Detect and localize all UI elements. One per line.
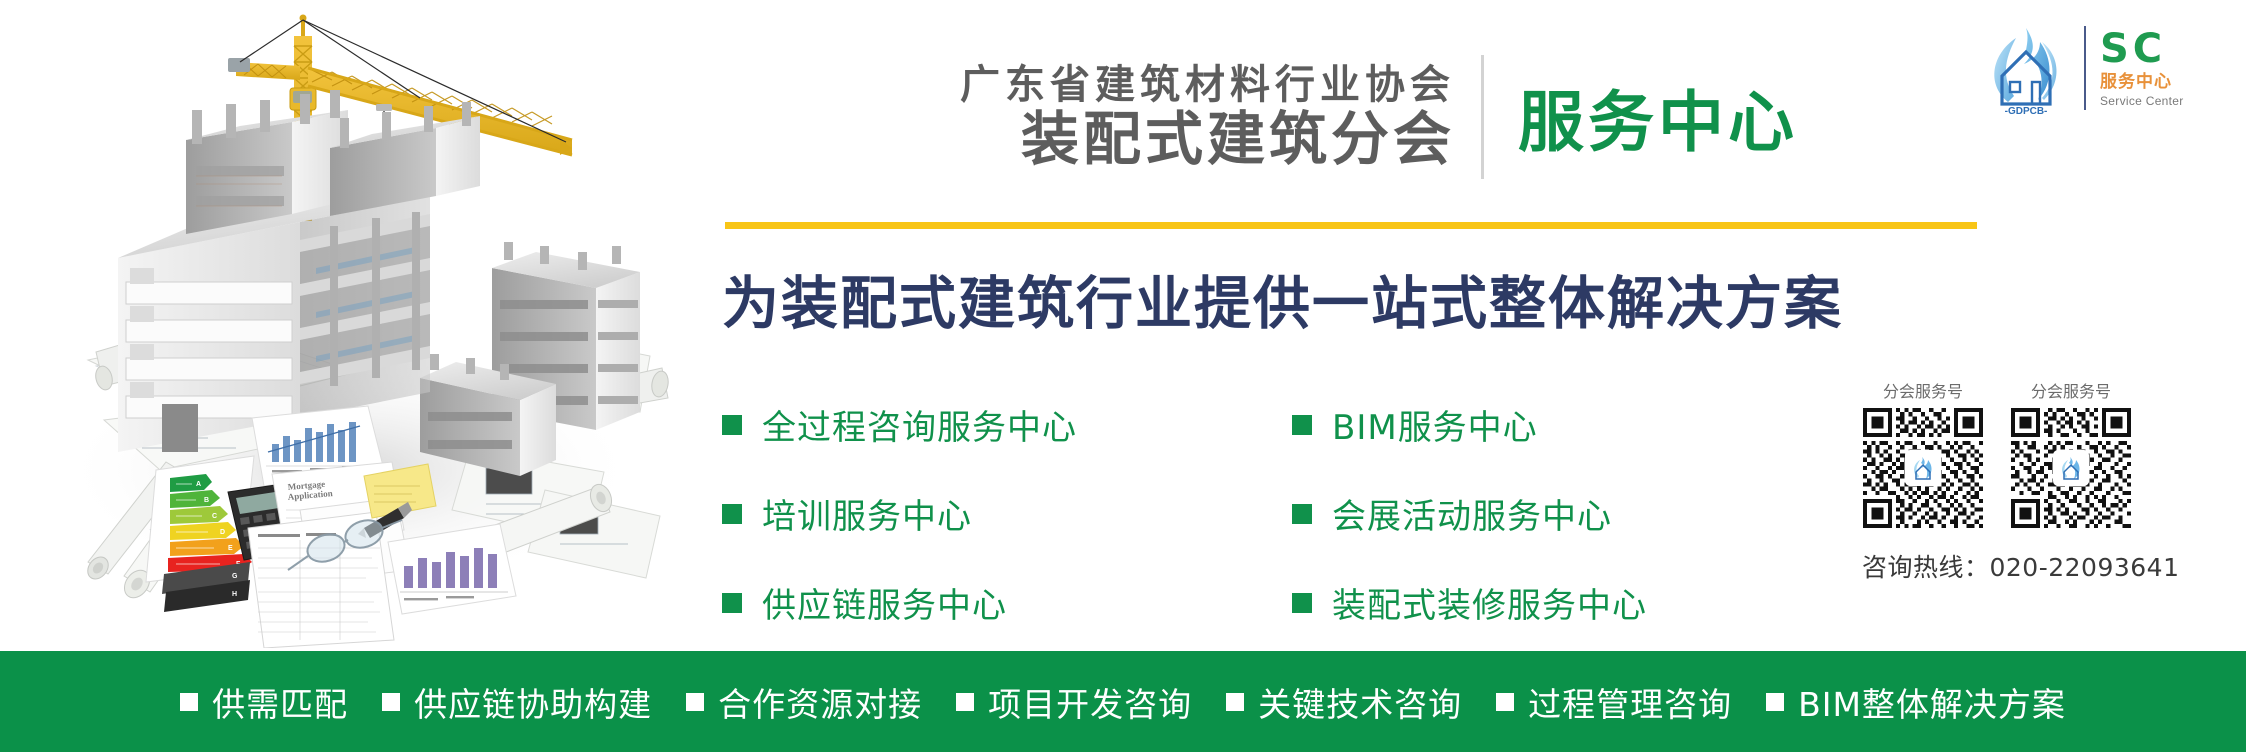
svg-text:C: C [212, 513, 217, 520]
bottom-item-label: 供应链协助构建 [414, 678, 652, 726]
qr-code-icon[interactable] [1863, 408, 1983, 528]
service-item-supply-chain[interactable]: 供应链服务中心 [722, 578, 1292, 627]
service-item-label: 供应链服务中心 [762, 578, 1007, 627]
bottom-services-bar: 供需匹配 供应链协助构建 合作资源对接 项目开发咨询 关键技术咨询 过程管理咨询 [0, 651, 2246, 752]
bottom-item-label: 过程管理咨询 [1528, 678, 1732, 726]
bottom-item-label: 关键技术咨询 [1258, 678, 1462, 726]
service-center-lists: 全过程咨询服务中心 培训服务中心 供应链服务中心 BIM服务中心 会展活动服务中… [722, 400, 1762, 627]
svg-text:D: D [220, 529, 225, 536]
bottom-item-supply-demand-matching[interactable]: 供需匹配 [180, 678, 348, 726]
association-name: 广东省建筑材料行业协会 [960, 63, 1455, 108]
service-item-bim[interactable]: BIM服务中心 [1292, 400, 1762, 449]
bottom-item-partner-resources[interactable]: 合作资源对接 [686, 678, 922, 726]
svg-text:G: G [232, 573, 238, 580]
logo-divider [2084, 26, 2086, 110]
service-item-label: 培训服务中心 [762, 489, 972, 538]
branch-name: 装配式建筑分会 [1021, 108, 1455, 172]
qr-code-icon[interactable] [2011, 408, 2131, 528]
square-bullet-icon [722, 415, 742, 435]
service-list-left: 全过程咨询服务中心 培训服务中心 供应链服务中心 [722, 400, 1292, 627]
service-list-right: BIM服务中心 会展活动服务中心 装配式装修服务中心 [1292, 400, 1762, 627]
service-item-full-process-consulting[interactable]: 全过程咨询服务中心 [722, 400, 1292, 449]
bottom-item-bim-total-solution[interactable]: BIM整体解决方案 [1766, 678, 2066, 726]
qr-caption: 分会服务号 [2031, 378, 2111, 402]
service-center-banner: AB CD EF GH [0, 0, 2246, 752]
bottom-item-key-technology-consulting[interactable]: 关键技术咨询 [1226, 678, 1462, 726]
service-item-label: 装配式装修服务中心 [1332, 578, 1647, 627]
tagline: 为装配式建筑行业提供一站式整体解决方案 [722, 258, 1992, 340]
service-item-training[interactable]: 培训服务中心 [722, 489, 1292, 538]
bottom-item-label: BIM整体解决方案 [1798, 678, 2066, 726]
square-bullet-icon [1226, 693, 1244, 711]
sc-chinese-label: 服务中心 [2100, 74, 2184, 91]
square-bullet-icon [1766, 693, 1784, 711]
bottom-item-label: 合作资源对接 [718, 678, 922, 726]
square-bullet-icon [1496, 693, 1514, 711]
square-bullet-icon [1292, 415, 1312, 435]
qr-cell-1: 分会服务号 [1860, 378, 1986, 528]
title-divider [1481, 55, 1484, 179]
qr-cell-2: 分会服务号 [2008, 378, 2134, 528]
square-bullet-icon [180, 693, 198, 711]
square-bullet-icon [722, 504, 742, 524]
bottom-item-label: 供需匹配 [212, 678, 348, 726]
square-bullet-icon [686, 693, 704, 711]
service-item-label: 全过程咨询服务中心 [762, 400, 1077, 449]
bottom-item-label: 项目开发咨询 [988, 678, 1192, 726]
sc-english-label: Service Center [2100, 95, 2184, 107]
square-bullet-icon [382, 693, 400, 711]
square-bullet-icon [722, 593, 742, 613]
qr-center-logo-icon [2053, 450, 2089, 486]
square-bullet-icon [1292, 504, 1312, 524]
logo-mark-caption: -GDPCB- [2005, 106, 2048, 116]
square-bullet-icon [1292, 593, 1312, 613]
sc-letters: SC [2100, 29, 2184, 69]
hero-construction-image: AB CD EF GH [0, 0, 700, 648]
qr-caption: 分会服务号 [1883, 378, 1963, 402]
qr-row: 分会服务号 [1860, 378, 2170, 528]
logo-lockup: -GDPCB- SC 服务中心 Service Center [1982, 18, 2232, 118]
organization-names: 广东省建筑材料行业协会 装配式建筑分会 [725, 63, 1455, 172]
square-bullet-icon [956, 693, 974, 711]
service-item-prefab-decoration[interactable]: 装配式装修服务中心 [1292, 578, 1762, 627]
svg-text:B: B [204, 497, 209, 504]
service-center-title: 服务中心 [1518, 69, 1798, 165]
qr-contact-block: 分会服务号 [1860, 378, 2170, 584]
qr-center-logo-icon [1905, 450, 1941, 486]
service-item-exhibition[interactable]: 会展活动服务中心 [1292, 489, 1762, 538]
sc-wordmark: SC 服务中心 Service Center [2100, 29, 2184, 107]
header-title-row: 广东省建筑材料行业协会 装配式建筑分会 服务中心 [725, 42, 1975, 192]
bottom-item-project-development-consulting[interactable]: 项目开发咨询 [956, 678, 1192, 726]
service-item-label: 会展活动服务中心 [1332, 489, 1612, 538]
bottom-services-list: 供需匹配 供应链协助构建 合作资源对接 项目开发咨询 关键技术咨询 过程管理咨询 [180, 678, 2066, 726]
svg-text:H: H [232, 591, 237, 598]
hotline-text: 咨询热线：020-22093641 [1860, 548, 2170, 584]
svg-text:E: E [228, 545, 233, 552]
svg-text:A: A [196, 481, 201, 488]
gdpcb-logo-icon: -GDPCB- [1982, 20, 2070, 116]
bottom-item-process-management-consulting[interactable]: 过程管理咨询 [1496, 678, 1732, 726]
bottom-item-supply-chain-build[interactable]: 供应链协助构建 [382, 678, 652, 726]
service-item-label: BIM服务中心 [1332, 400, 1538, 449]
gold-divider-rule [725, 222, 1977, 229]
